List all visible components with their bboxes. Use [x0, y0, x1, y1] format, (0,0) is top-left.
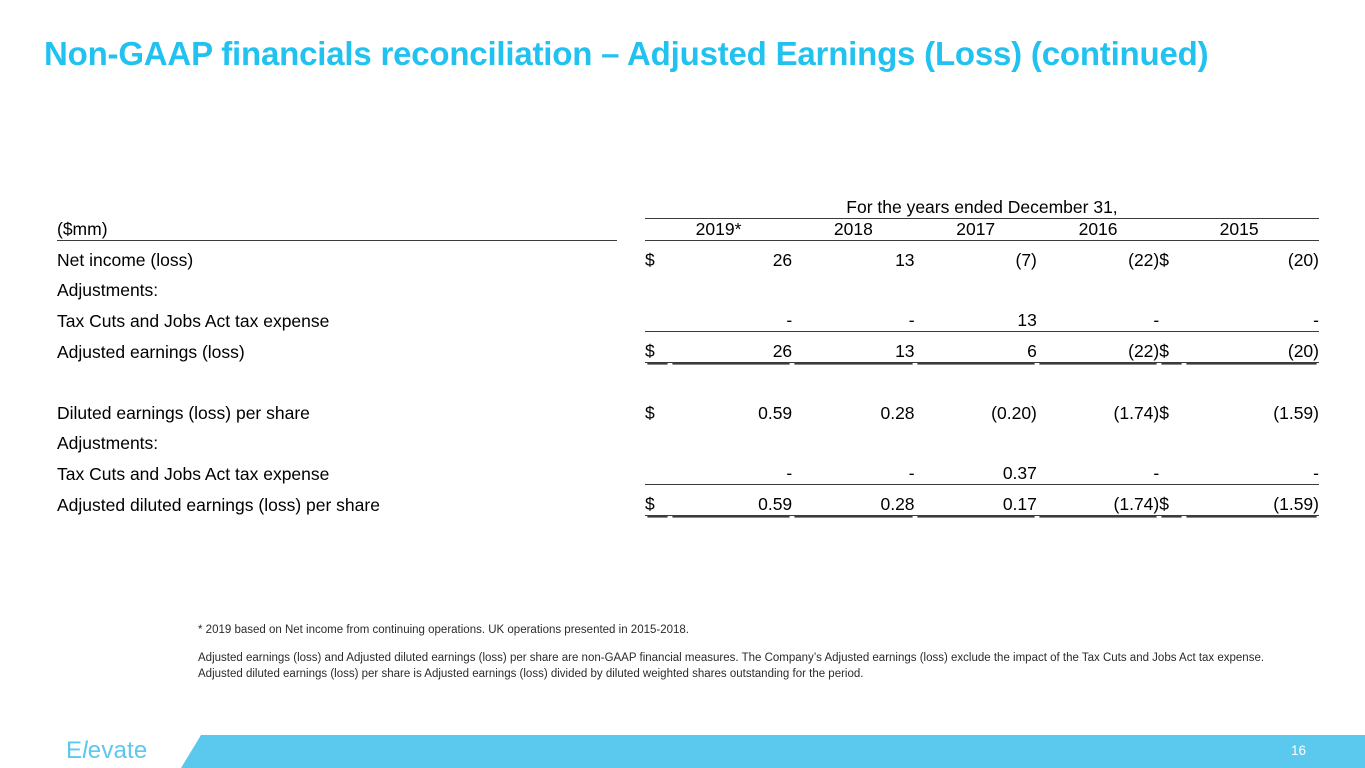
cell-2016: - — [1037, 301, 1159, 332]
column-header-2019: 2019* — [645, 219, 792, 241]
empty-cell — [617, 485, 645, 516]
empty-cell — [617, 301, 645, 332]
cell-2019: 0.59 — [670, 394, 792, 424]
cell-currency-2015 — [1159, 424, 1184, 454]
cell-2017: (7) — [915, 241, 1037, 272]
table-group-header-row: For the years ended December 31, — [57, 197, 1319, 219]
empty-cell — [617, 197, 645, 219]
cell-2016 — [1037, 271, 1159, 301]
table-row-total: Adjusted diluted earnings (loss) per sha… — [57, 485, 1319, 516]
cell-2016: - — [1037, 454, 1159, 485]
empty-cell — [57, 197, 617, 219]
row-label: Adjustments: — [57, 271, 617, 301]
cell-2018: 13 — [792, 241, 914, 272]
cell-currency-2015: $ — [1159, 485, 1184, 516]
elevate-logo: Elevate — [66, 736, 147, 766]
cell-2018: 0.28 — [792, 394, 914, 424]
page-number: 16 — [1291, 740, 1306, 762]
cell-2016: (22) — [1037, 241, 1159, 272]
cell-currency-2015 — [1159, 271, 1184, 301]
table-row: Tax Cuts and Jobs Act tax expense - - 13… — [57, 301, 1319, 332]
table-column-header-row: ($mm) 2019* 2018 2017 2016 2015 — [57, 219, 1319, 241]
cell-2016 — [1037, 424, 1159, 454]
footnotes: * 2019 based on Net income from continui… — [198, 622, 1270, 682]
cell-2017 — [915, 424, 1037, 454]
cell-2016: (1.74) — [1037, 394, 1159, 424]
cell-currency-2019: $ — [645, 394, 670, 424]
cell-2015: (1.59) — [1184, 485, 1319, 516]
cell-currency-2015: $ — [1159, 394, 1184, 424]
cell-2016: (1.74) — [1037, 485, 1159, 516]
cell-currency-2019: $ — [645, 241, 670, 272]
footnote-asterisk: * 2019 based on Net income from continui… — [198, 622, 1270, 638]
table-row: Adjustments: — [57, 424, 1319, 454]
row-label: Tax Cuts and Jobs Act tax expense — [57, 454, 617, 485]
column-header-2018: 2018 — [792, 219, 914, 241]
cell-currency-2015: $ — [1159, 241, 1184, 272]
cell-currency-2015 — [1159, 454, 1184, 485]
column-header-2016: 2016 — [1037, 219, 1159, 241]
cell-2015: - — [1184, 454, 1319, 485]
cell-2018: - — [792, 301, 914, 332]
cell-2017: 0.17 — [915, 485, 1037, 516]
unit-label: ($mm) — [57, 219, 617, 241]
cell-2019: 26 — [670, 332, 792, 363]
cell-2015: (1.59) — [1184, 394, 1319, 424]
cell-2019: - — [670, 454, 792, 485]
table-row: Tax Cuts and Jobs Act tax expense - - 0.… — [57, 454, 1319, 485]
empty-cell — [617, 241, 645, 272]
cell-currency-2019 — [645, 301, 670, 332]
column-header-2017: 2017 — [915, 219, 1037, 241]
non-gaap-reconciliation-table: For the years ended December 31, ($mm) 2… — [57, 197, 1319, 516]
cell-currency-2019 — [645, 454, 670, 485]
footnote-nongaap-definition: Adjusted earnings (loss) and Adjusted di… — [198, 650, 1270, 682]
cell-currency-2019: $ — [645, 332, 670, 363]
cell-2015 — [1184, 424, 1319, 454]
cell-2018: - — [792, 454, 914, 485]
cell-2018: 0.28 — [792, 485, 914, 516]
empty-cell — [617, 424, 645, 454]
page-title: Non-GAAP financials reconciliation – Adj… — [44, 32, 1304, 76]
table-row: Adjustments: — [57, 271, 1319, 301]
cell-2015: (20) — [1184, 241, 1319, 272]
cell-2018: 13 — [792, 332, 914, 363]
cell-2019: 0.59 — [670, 485, 792, 516]
cell-currency-2015: $ — [1159, 332, 1184, 363]
empty-cell — [617, 332, 645, 363]
cell-2018 — [792, 271, 914, 301]
cell-2015 — [1184, 271, 1319, 301]
cell-2015: - — [1184, 301, 1319, 332]
column-header-2015: 2015 — [1159, 219, 1319, 241]
empty-cell — [617, 454, 645, 485]
row-label: Tax Cuts and Jobs Act tax expense — [57, 301, 617, 332]
row-label: Adjusted earnings (loss) — [57, 332, 617, 363]
cell-currency-2019 — [645, 424, 670, 454]
empty-cell — [617, 394, 645, 424]
row-label: Adjusted diluted earnings (loss) per sha… — [57, 485, 617, 516]
cell-2016: (22) — [1037, 332, 1159, 363]
logo-text-part2: evate — [88, 737, 148, 764]
cell-2017: 0.37 — [915, 454, 1037, 485]
group-header-label: For the years ended December 31, — [645, 197, 1319, 219]
footer-bar — [0, 735, 1365, 768]
cell-2017: (0.20) — [915, 394, 1037, 424]
empty-cell — [617, 271, 645, 301]
row-label: Diluted earnings (loss) per share — [57, 394, 617, 424]
cell-currency-2019: $ — [645, 485, 670, 516]
row-label: Net income (loss) — [57, 241, 617, 272]
empty-cell — [617, 219, 645, 241]
cell-2017: 13 — [915, 301, 1037, 332]
cell-2015: (20) — [1184, 332, 1319, 363]
cell-currency-2015 — [1159, 301, 1184, 332]
table-row-total: Adjusted earnings (loss) $ 26 13 6 (22) … — [57, 332, 1319, 363]
table-spacer-row — [57, 363, 1319, 395]
cell-2019: - — [670, 301, 792, 332]
cell-2018 — [792, 424, 914, 454]
table-row: Diluted earnings (loss) per share $ 0.59… — [57, 394, 1319, 424]
cell-2017 — [915, 271, 1037, 301]
row-label: Adjustments: — [57, 424, 617, 454]
cell-currency-2019 — [645, 271, 670, 301]
table-row: Net income (loss) $ 26 13 (7) (22) $ (20… — [57, 241, 1319, 272]
cell-2019 — [670, 424, 792, 454]
cell-2019 — [670, 271, 792, 301]
empty-cell — [57, 363, 1319, 395]
logo-text-part1: E — [66, 737, 82, 764]
cell-2017: 6 — [915, 332, 1037, 363]
cell-2019: 26 — [670, 241, 792, 272]
